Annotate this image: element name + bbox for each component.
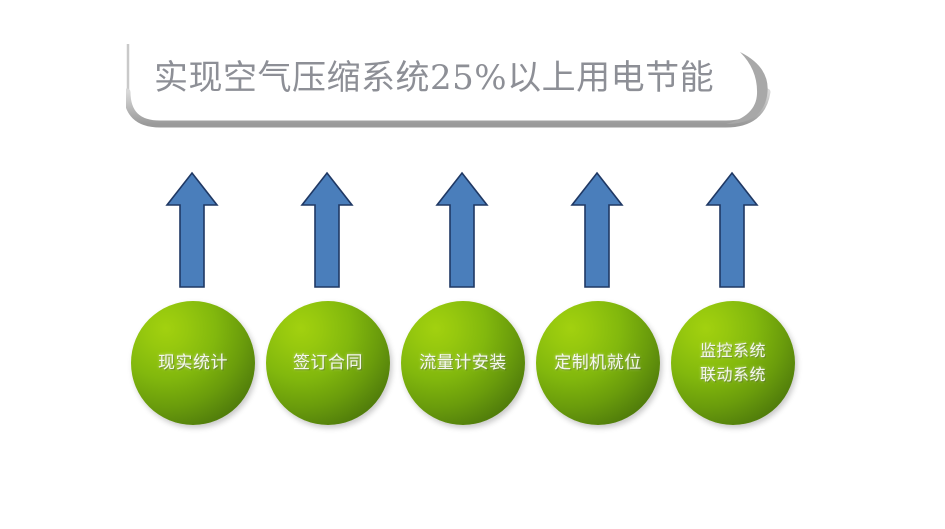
node-circle-3[interactable]: 流量计安装 xyxy=(401,301,525,425)
arrow-up-icon-1 xyxy=(164,170,220,290)
node-circle-4[interactable]: 定制机就位 xyxy=(536,301,660,425)
node-circle-5[interactable]: 监控系统 联动系统 xyxy=(671,301,795,425)
arrow-up-icon-3 xyxy=(434,170,490,290)
node-label-4: 定制机就位 xyxy=(550,352,646,375)
node-circle-2[interactable]: 签订合同 xyxy=(266,301,390,425)
node-label-5: 监控系统 联动系统 xyxy=(696,339,770,387)
arrow-up-icon-4 xyxy=(569,170,625,290)
title-banner: 实现空气压缩系统25%以上用电节能 xyxy=(126,40,774,128)
slide-canvas: 实现空气压缩系统25%以上用电节能 现实统计 签订合同 流量计安装 定制机 xyxy=(0,0,945,529)
node-label-1: 现实统计 xyxy=(154,352,232,375)
arrow-up-icon-5 xyxy=(704,170,760,290)
page-title: 实现空气压缩系统25%以上用电节能 xyxy=(154,58,754,98)
node-label-2: 签订合同 xyxy=(289,352,367,375)
arrow-up-icon-2 xyxy=(299,170,355,290)
node-label-3: 流量计安装 xyxy=(415,352,511,375)
node-circle-1[interactable]: 现实统计 xyxy=(131,301,255,425)
